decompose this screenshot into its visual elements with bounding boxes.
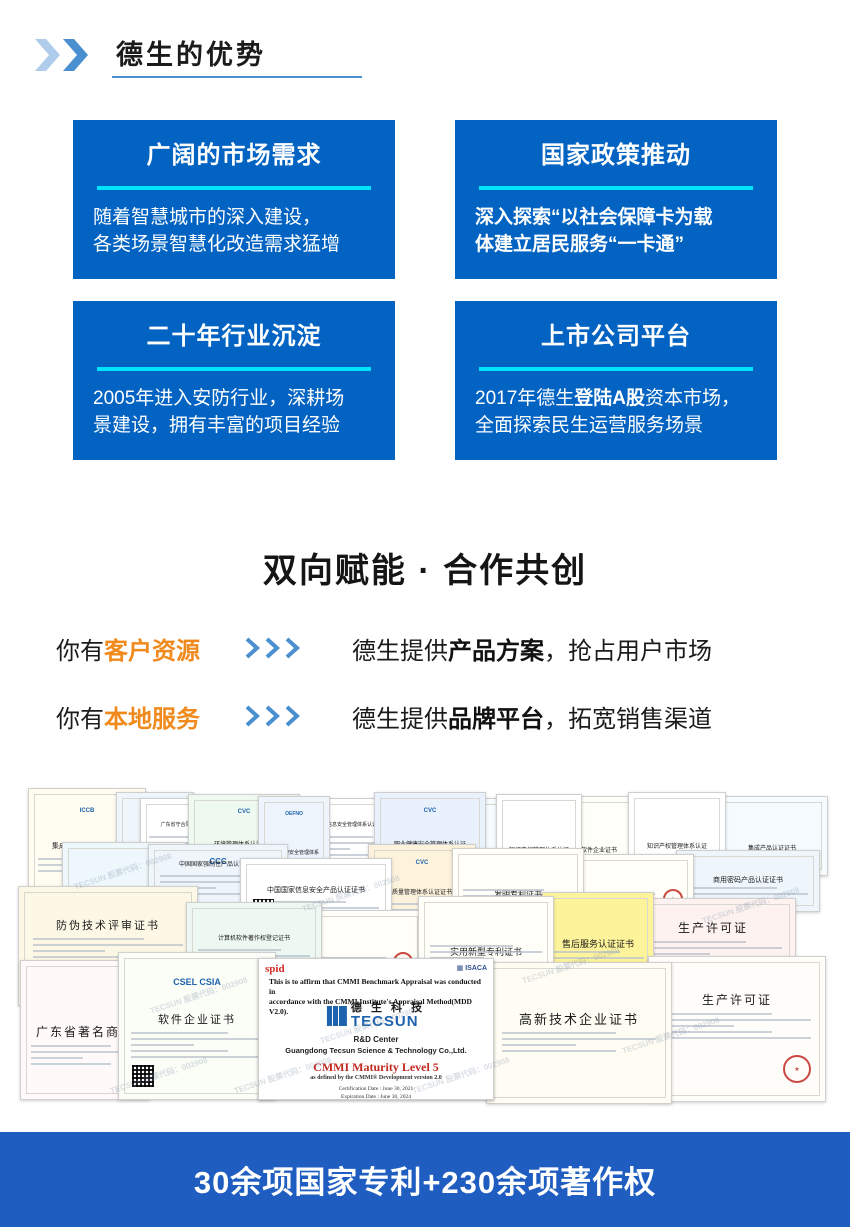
- certificate-collage: ICCB集成电路布图设计证书OEFNO环境管理体系认证证书★广东省守合同重信用企…: [0, 770, 850, 1132]
- certificate-text-line: [463, 889, 544, 891]
- certificate-seal: ★: [783, 1055, 811, 1083]
- patent-banner-text: 30余项国家专利+230余项著作权: [194, 1157, 656, 1202]
- certificate-text-line: [502, 1032, 616, 1034]
- advantage-card: 二十年行业沉淀 2005年进入安防行业，深耕场 景建设，拥有丰富的项目经验: [73, 301, 395, 460]
- cmmi-unit: R&D Center: [259, 1035, 493, 1044]
- card-title: 二十年行业沉淀: [93, 323, 375, 352]
- certificate-text-line: [198, 949, 281, 951]
- certificate-emblem: CVC: [424, 808, 437, 814]
- card-body-line: 2005年进入安防行业，深耕场: [93, 385, 375, 413]
- advantage-card-grid: 广阔的市场需求 随着智慧城市的深入建设， 各类场景智慧化改造需求猛增 国家政策推…: [73, 120, 777, 460]
- certificate-emblem: OEFNO: [285, 811, 303, 817]
- card-title: 上市公司平台: [475, 323, 757, 352]
- certificate-text-line: [430, 945, 513, 947]
- certificate-text-line: [131, 1038, 262, 1040]
- double-chevron-icon: [34, 38, 88, 72]
- advantages-page: 德生的优势 广阔的市场需求 随着智慧城市的深入建设， 各类场景智慧化改造需求猛增…: [0, 0, 850, 1227]
- card-title: 广阔的市场需求: [93, 142, 375, 171]
- isaca-logo: ▦ ISACA: [457, 964, 487, 972]
- certificate-text-line: [33, 950, 105, 952]
- row-right-text: 德生提供品牌平台，拓宽销售渠道: [352, 699, 712, 734]
- certificate-title: 知识产权管理体系认证: [629, 841, 725, 850]
- card-body-line: 景建设，拥有丰富的项目经验: [93, 412, 375, 440]
- row-left-highlight: 本地服务: [104, 706, 200, 733]
- row-left-highlight: 客户资源: [104, 638, 200, 665]
- title-underline: [112, 76, 362, 78]
- section-title-wrap: 德生的优势: [110, 41, 362, 78]
- advantage-card: 上市公司平台 2017年德生登陆A股资本市场， 全面探索民生运营服务场景: [455, 301, 777, 460]
- row-left-text: 你有客户资源: [56, 631, 244, 666]
- triple-chevron-icon: [244, 704, 352, 728]
- dual-empower-rows: 你有客户资源 德生提供产品方案，抢占用户市场 你有本地服务: [56, 625, 816, 761]
- triple-chevron-icon: [244, 636, 352, 660]
- card-body-line-rich: 2017年德生登陆A股资本市场，: [475, 385, 757, 413]
- card-title: 国家政策推动: [475, 142, 757, 171]
- certificate-text-line: [688, 887, 776, 889]
- dual-empower-row: 你有本地服务 德生提供品牌平台，拓宽销售渠道: [56, 693, 816, 739]
- card-body: 随着智慧城市的深入建设， 各类场景智慧化改造需求猛增: [93, 204, 375, 259]
- dual-empower-title: 双向赋能 · 合作共创: [0, 543, 850, 592]
- card-divider: [479, 367, 753, 371]
- row-right-emphasis: 产品方案: [448, 638, 544, 665]
- chevron-right-icon: [244, 704, 261, 728]
- card-body-line: 随着智慧城市的深入建设，: [93, 204, 375, 232]
- certificate-text-line: [502, 1050, 616, 1052]
- dual-empower-row: 你有客户资源 德生提供产品方案，抢占用户市场: [56, 625, 816, 671]
- certificate-emblem: ICCB: [80, 808, 95, 814]
- certificate-card: 高新技术企业证书: [486, 962, 672, 1104]
- chevron-right-icon-dark: [62, 38, 88, 72]
- row-right-emphasis: 品牌平台: [448, 706, 544, 733]
- row-right-text: 德生提供产品方案，抢占用户市场: [352, 631, 712, 666]
- card-body-emphasis: 登陆A股: [574, 388, 645, 409]
- certificate-emblem: CVC: [416, 860, 429, 866]
- card-body: 2017年德生登陆A股资本市场， 全面探索民生运营服务场景: [475, 385, 757, 440]
- chevron-right-icon: [284, 636, 301, 660]
- card-divider: [97, 367, 371, 371]
- certificate-text-line: [502, 1038, 657, 1040]
- card-body-line: 体建立居民服务“一卡通”: [475, 231, 757, 259]
- patent-banner: 30余项国家专利+230余项著作权: [0, 1132, 850, 1227]
- cmmi-company: Guangdong Tecsun Science & Technology Co…: [259, 1046, 493, 1055]
- chevron-right-icon-light: [34, 38, 60, 72]
- certificate-text-line: [131, 1032, 228, 1034]
- certificate-title: 售后服务认证证书: [543, 937, 653, 950]
- certificate-text-line: [644, 947, 782, 949]
- certificate-text-line: [644, 941, 746, 943]
- section-header: 德生的优势: [34, 38, 362, 78]
- card-body-line: 全面探索民生运营服务场景: [475, 412, 757, 440]
- certificate-emblem: CVC: [238, 809, 251, 815]
- card-body: 深入探索“以社会保障卡为载 体建立居民服务“一卡通”: [475, 204, 757, 259]
- chevron-right-icon: [284, 704, 301, 728]
- card-divider: [479, 186, 753, 190]
- page-title: 德生的优势: [110, 41, 362, 76]
- advantage-card: 国家政策推动 深入探索“以社会保障卡为载 体建立居民服务“一卡通”: [455, 120, 777, 279]
- certificate-text-line: [31, 1057, 83, 1059]
- chevron-right-icon: [244, 636, 261, 660]
- spid-logo: spid: [265, 963, 285, 975]
- certificate-title: 商用密码产品认证证书: [677, 875, 819, 885]
- certificate-text-line: [502, 1044, 576, 1046]
- certificate-text-line: [33, 944, 183, 946]
- chevron-right-icon: [264, 636, 281, 660]
- certificate-title: 生产许可证: [649, 991, 825, 1008]
- card-body-line: 各类场景智慧化改造需求猛增: [93, 231, 375, 259]
- certificate-text-line: [31, 1045, 111, 1047]
- card-divider: [97, 186, 371, 190]
- certificate-title: 高新技术企业证书: [487, 1009, 671, 1028]
- certificate-text-line: [31, 1063, 111, 1065]
- advantage-card: 广阔的市场需求 随着智慧城市的深入建设， 各类场景智慧化改造需求猛增: [73, 120, 395, 279]
- certificate-title: 防伪技术评审证书: [19, 917, 197, 933]
- certificate-text-line: [430, 951, 543, 953]
- certificate-text-line: [663, 1037, 811, 1039]
- row-left-text: 你有本地服务: [56, 699, 244, 734]
- certificate-title: 计算机软件著作权登记证书: [187, 933, 321, 942]
- certificate-text-line: [160, 875, 246, 877]
- certificate-text-line: [131, 1044, 194, 1046]
- certificate-text-line: [33, 938, 144, 940]
- card-body: 2005年进入安防行业，深耕场 景建设，拥有丰富的项目经验: [93, 385, 375, 440]
- certificate-text-line: [644, 953, 710, 955]
- certificate-text-line: [131, 1050, 228, 1052]
- certificate-text-line: [663, 1019, 811, 1021]
- cmmi-dates: Certification Date : June 30, 2021Expira…: [259, 1085, 493, 1100]
- tecsun-mark-icon: [327, 1006, 347, 1026]
- card-body-line: 深入探索“以社会保障卡为载: [475, 204, 757, 232]
- certificate-title: 软件企业证书: [119, 1011, 275, 1027]
- chevron-right-icon: [264, 704, 281, 728]
